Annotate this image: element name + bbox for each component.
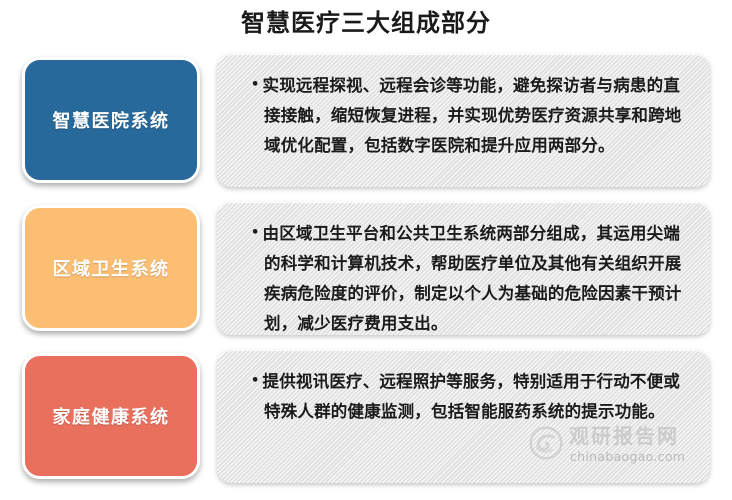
description-text: 由区域卫生平台和公共卫生系统两部分组成，其运用尖端的科学和计算机技术，帮助医疗单… [251, 218, 692, 339]
content-row: 实现远程探视、远程会诊等功能，避免探访者与病患的直接接触，缩短恢复进程，并实现优… [0, 52, 732, 192]
watermark-name: 观研报告网 [569, 424, 679, 448]
description-text: 实现远程探视、远程会诊等功能，避免探访者与病患的直接接触，缩短恢复进程，并实现优… [251, 70, 692, 161]
page-title: 智慧医疗三大组成部分 [0, 8, 732, 38]
description-panel: 由区域卫生平台和公共卫生系统两部分组成，其运用尖端的科学和计算机技术，帮助医疗单… [217, 202, 710, 335]
category-chip-label: 家庭健康系统 [53, 403, 170, 429]
description-panel: 实现远程探视、远程会诊等功能，避免探访者与病患的直接接触，缩短恢复进程，并实现优… [217, 54, 710, 187]
watermark-swirl-logo [529, 426, 563, 460]
category-chip-label: 区域卫生系统 [53, 255, 170, 281]
watermark: 观研报告网 chinabaogao.com [529, 424, 704, 472]
content-row: 由区域卫生平台和公共卫生系统两部分组成，其运用尖端的科学和计算机技术，帮助医疗单… [0, 200, 732, 340]
description-text: 提供视讯医疗、远程照护等服务，特别适用于行动不便或特殊人群的健康监测，包括智能服… [251, 366, 692, 427]
category-chip-family-health[interactable]: 家庭健康系统 [22, 353, 200, 479]
category-chip-regional-health[interactable]: 区域卫生系统 [22, 205, 200, 331]
category-chip-label: 智慧医院系统 [53, 107, 170, 133]
category-chip-smart-hospital[interactable]: 智慧医院系统 [22, 57, 200, 183]
watermark-url: chinabaogao.com [570, 449, 685, 465]
